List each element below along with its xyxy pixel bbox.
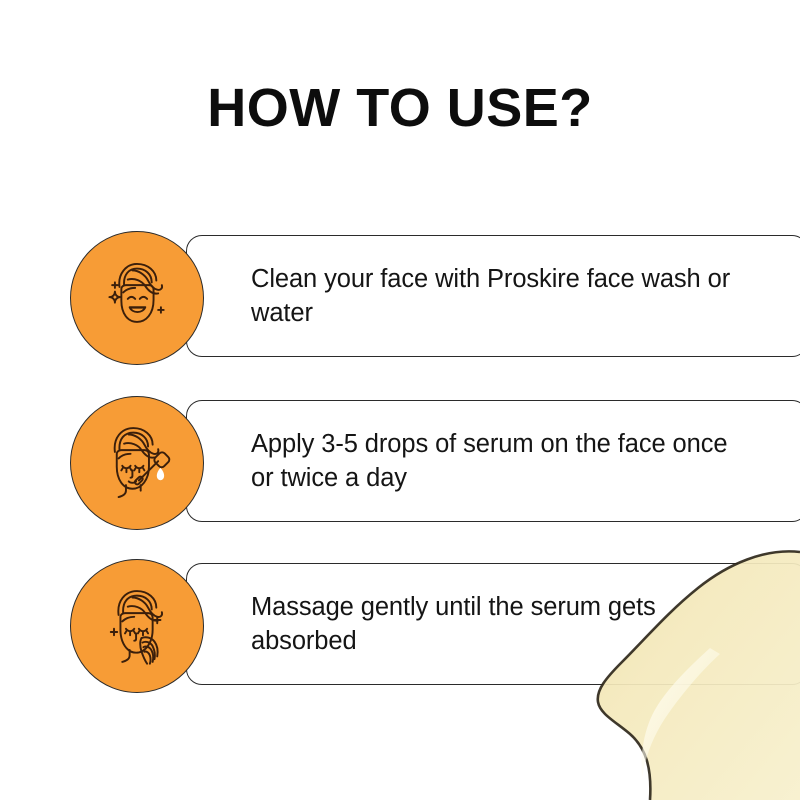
step-text: Massage gently until the serum gets abso… — [251, 590, 751, 658]
step-icon-badge — [70, 559, 204, 693]
how-to-use-infographic: HOW TO USE? Clean your face with Proskir… — [0, 0, 800, 800]
step-text: Apply 3-5 drops of serum on the face onc… — [251, 427, 751, 495]
face-towel-smiling-sparkle-icon — [91, 252, 183, 344]
step-card: Clean your face with Proskire face wash … — [186, 235, 800, 357]
step-item: Clean your face with Proskire face wash … — [70, 231, 742, 367]
step-card: Massage gently until the serum gets abso… — [186, 563, 800, 685]
steps-list: Clean your face with Proskire face wash … — [0, 0, 800, 800]
step-card: Apply 3-5 drops of serum on the face onc… — [186, 400, 800, 522]
face-towel-dropper-serum-icon — [91, 417, 183, 509]
step-item: Massage gently until the serum gets abso… — [70, 559, 742, 695]
step-icon-badge — [70, 396, 204, 530]
step-text: Clean your face with Proskire face wash … — [251, 262, 751, 330]
step-item: Apply 3-5 drops of serum on the face onc… — [70, 396, 742, 532]
step-icon-badge — [70, 231, 204, 365]
face-towel-massage-hand-icon — [91, 580, 183, 672]
